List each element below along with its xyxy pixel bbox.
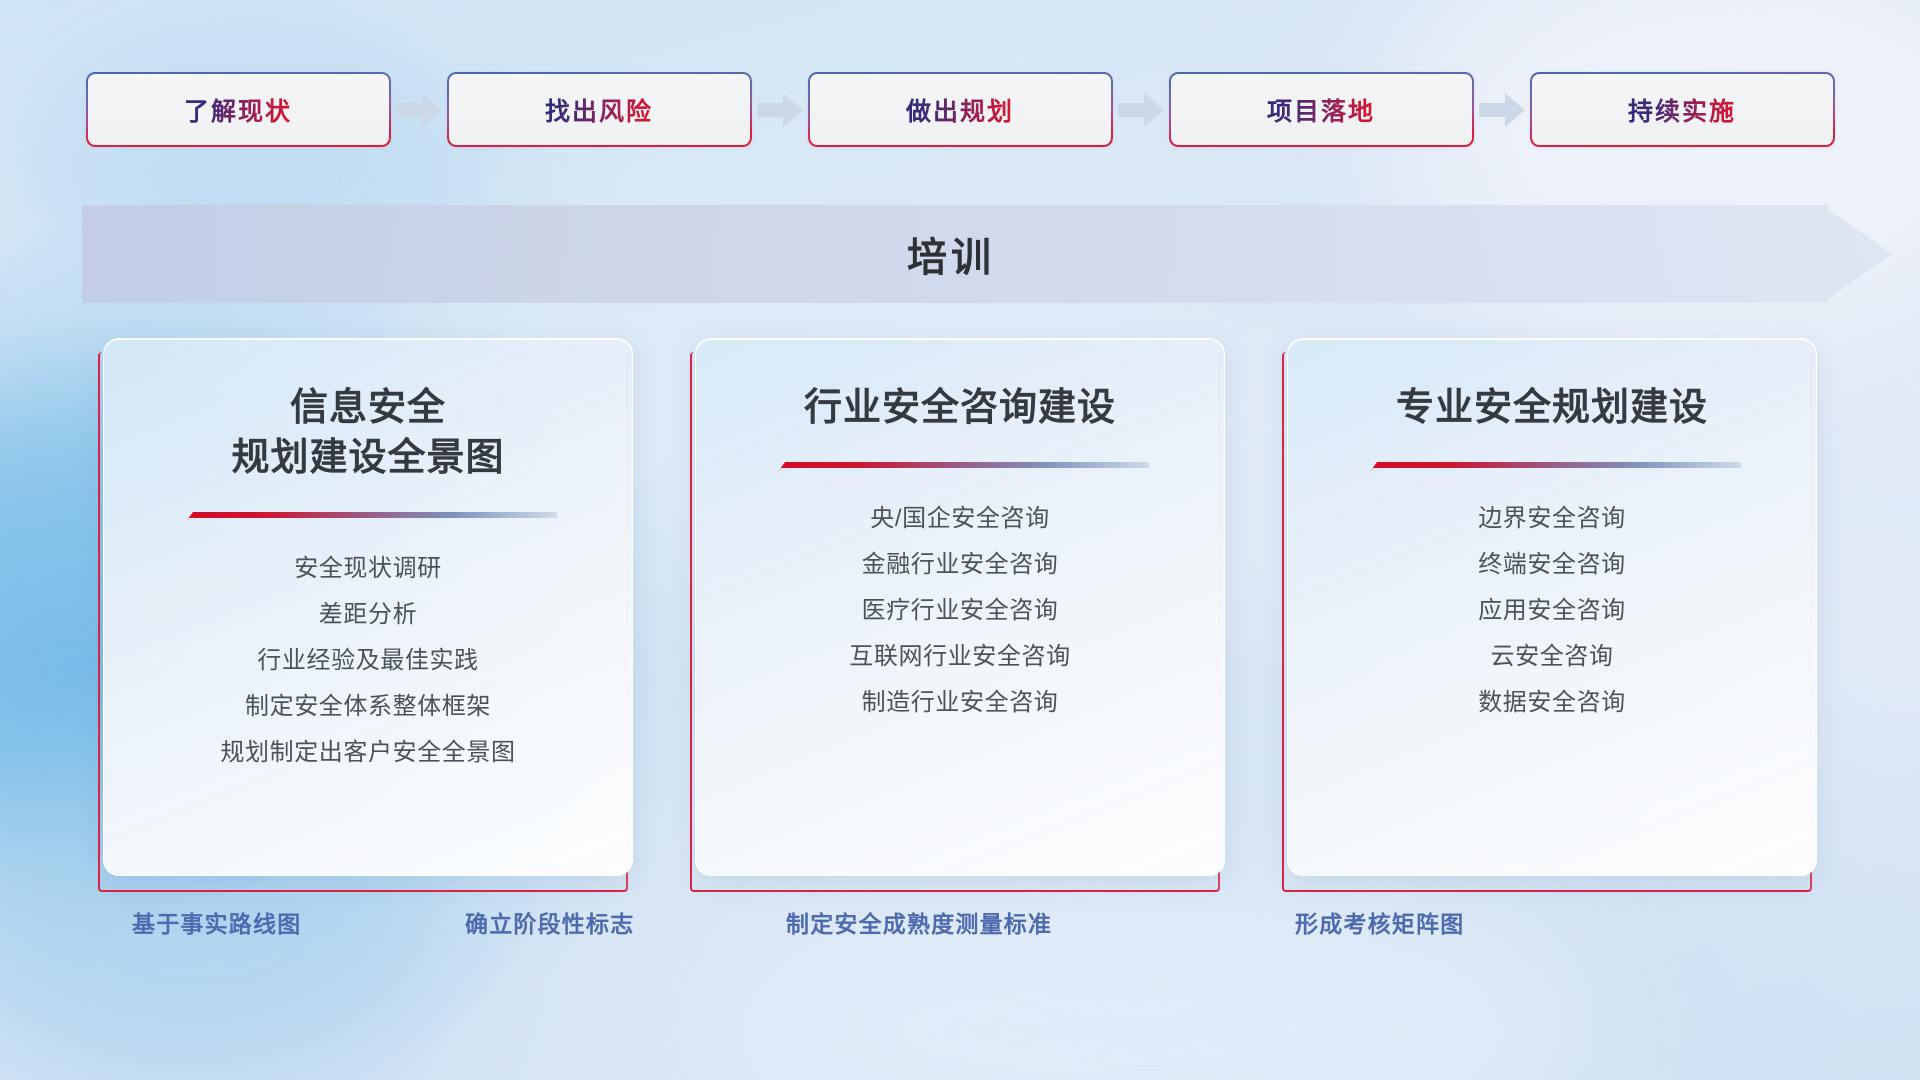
list-item: 行业经验及最佳实践 [257,643,478,679]
list-item: 制定安全体系整体框架 [245,689,491,725]
list-item: 应用安全咨询 [1478,593,1626,629]
arrow-right-icon [1474,72,1530,147]
process-step-row: 了解现状 找出风险 做出规划 项目落地 [0,72,1920,147]
step-label: 持续实施 [1628,92,1736,128]
gradient-divider-icon [179,509,557,525]
step-item-1[interactable]: 了解现状 [86,72,391,147]
step-label: 做出规划 [906,92,1014,128]
list-item: 边界安全咨询 [1478,501,1626,537]
list-item: 医疗行业安全咨询 [862,593,1059,629]
slide-canvas: 了解现状 找出风险 做出规划 项目落地 [0,0,1920,1080]
card-list: 央/国企安全咨询 金融行业安全咨询 医疗行业安全咨询 互联网行业安全咨询 制造行… [696,501,1224,721]
list-item: 央/国企安全咨询 [870,501,1049,537]
list-item: 数据安全咨询 [1478,685,1626,721]
card-2[interactable]: 行业安全咨询建设 [695,338,1225,876]
list-item: 云安全咨询 [1491,639,1614,675]
card-title: 信息安全 规划建设全景图 [231,383,504,483]
footer-label-row: 基于事实路线图 确立阶段性标志 制定安全成熟度测量标准 形成考核矩阵图 [0,905,1920,965]
card-1[interactable]: 信息安全 规划建设全景图 [103,338,633,876]
list-item: 安全现状调研 [294,551,442,587]
card-title: 行业安全咨询建设 [804,383,1116,433]
arrow-right-icon [752,72,808,147]
arrow-right-icon [391,72,447,147]
card-list: 边界安全咨询 终端安全咨询 应用安全咨询 云安全咨询 数据安全咨询 [1288,501,1816,721]
training-banner: 培训 [0,205,1920,303]
list-item: 金融行业安全咨询 [862,547,1059,583]
step-item-5[interactable]: 持续实施 [1530,72,1835,147]
footer-label: 制定安全成熟度测量标准 [786,905,1052,939]
card-wrapper-1: 信息安全 规划建设全景图 [103,338,633,876]
gradient-divider-icon [771,459,1149,475]
arrow-right-icon [1113,72,1169,147]
step-item-2[interactable]: 找出风险 [447,72,752,147]
card-row: 信息安全 规划建设全景图 [0,338,1920,876]
list-item: 终端安全咨询 [1478,547,1626,583]
list-item: 差距分析 [319,597,417,633]
card-wrapper-3: 专业安全规划建设 [1287,338,1817,876]
footer-label: 确立阶段性标志 [465,905,634,939]
card-list: 安全现状调研 差距分析 行业经验及最佳实践 制定安全体系整体框架 规划制定出客户… [104,551,632,771]
step-label: 项目落地 [1267,92,1375,128]
step-item-4[interactable]: 项目落地 [1169,72,1474,147]
step-item-3[interactable]: 做出规划 [808,72,1113,147]
step-label: 了解现状 [184,92,292,128]
banner-label: 培训 [0,205,1920,303]
footer-label: 基于事实路线图 [132,905,301,939]
gradient-divider-icon [1363,459,1741,475]
card-wrapper-2: 行业安全咨询建设 [695,338,1225,876]
card-title: 专业安全规划建设 [1396,383,1708,433]
footer-label: 形成考核矩阵图 [1295,905,1464,939]
step-label: 找出风险 [545,92,653,128]
list-item: 规划制定出客户安全全景图 [220,735,515,771]
card-3[interactable]: 专业安全规划建设 [1287,338,1817,876]
list-item: 互联网行业安全咨询 [849,639,1070,675]
list-item: 制造行业安全咨询 [862,685,1059,721]
